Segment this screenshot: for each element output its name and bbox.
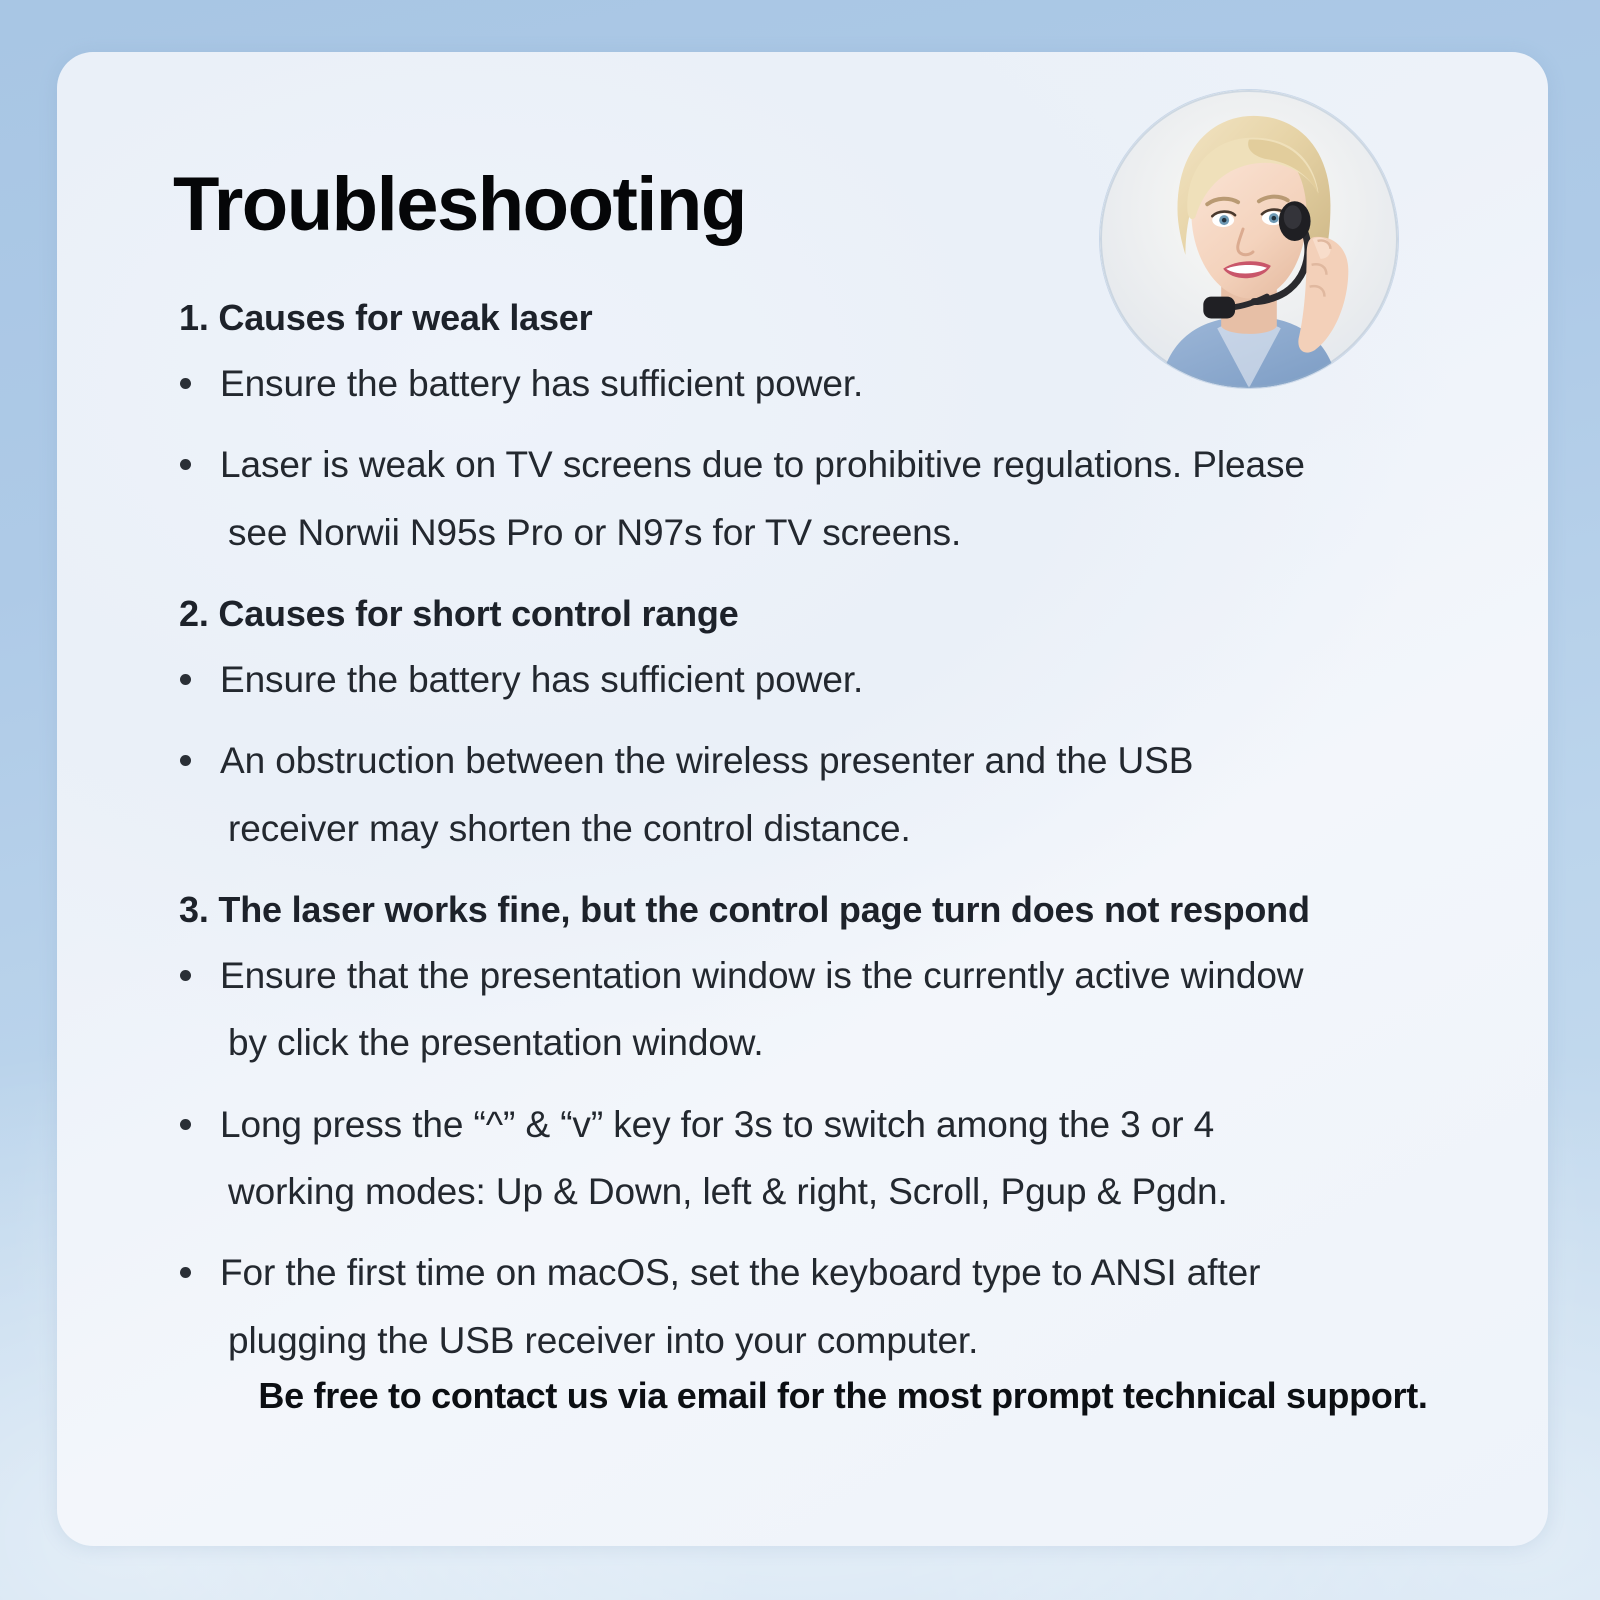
list-item-line: Ensure the battery has sufficient power. [220,363,863,404]
section-heading-3: 3. The laser works fine, but the control… [173,892,1513,928]
bullet-dot-icon [180,674,191,685]
bullet-dot-icon [180,755,191,766]
list-item-line-continued: plugging the USB receiver into your comp… [220,1307,1513,1374]
troubleshooting-card: Troubleshooting [57,52,1548,1546]
list-item-line: An obstruction between the wireless pres… [220,740,1193,781]
list-item-line-continued: working modes: Up & Down, left & right, … [220,1158,1513,1225]
list-item: Long press the “^” & “v” key for 3s to s… [173,1091,1513,1226]
list-item: Ensure the battery has sufficient power. [173,646,1513,713]
page-background: Troubleshooting [0,0,1600,1600]
bullet-dot-icon [180,1267,191,1278]
troubleshooting-sections: 1. Causes for weak laser Ensure the batt… [173,300,1513,1374]
list-item: An obstruction between the wireless pres… [173,727,1513,862]
list-item-line: For the first time on macOS, set the key… [220,1252,1260,1293]
list-item-line: Ensure the battery has sufficient power. [220,659,863,700]
list-item: Laser is weak on TV screens due to prohi… [173,431,1513,566]
list-item: For the first time on macOS, set the key… [173,1239,1513,1374]
bullet-dot-icon [180,459,191,470]
list-item-line: Laser is weak on TV screens due to prohi… [220,444,1305,485]
list-item-line: Ensure that the presentation window is t… [220,955,1303,996]
list-item: Ensure that the presentation window is t… [173,942,1513,1077]
section-heading-1: 1. Causes for weak laser [173,300,1513,336]
bullet-dot-icon [180,378,191,389]
bullet-dot-icon [180,1119,191,1130]
list-item-line-continued: by click the presentation window. [220,1009,1513,1076]
contact-support-note: Be free to contact us via email for the … [173,1374,1513,1417]
bullet-dot-icon [180,970,191,981]
section-heading-2: 2. Causes for short control range [173,596,1513,632]
page-title: Troubleshooting [173,167,746,243]
list-item-line: Long press the “^” & “v” key for 3s to s… [220,1104,1214,1145]
list-item: Ensure the battery has sufficient power. [173,350,1513,417]
list-item-line-continued: see Norwii N95s Pro or N97s for TV scree… [220,499,1513,566]
list-item-line-continued: receiver may shorten the control distanc… [220,795,1513,862]
